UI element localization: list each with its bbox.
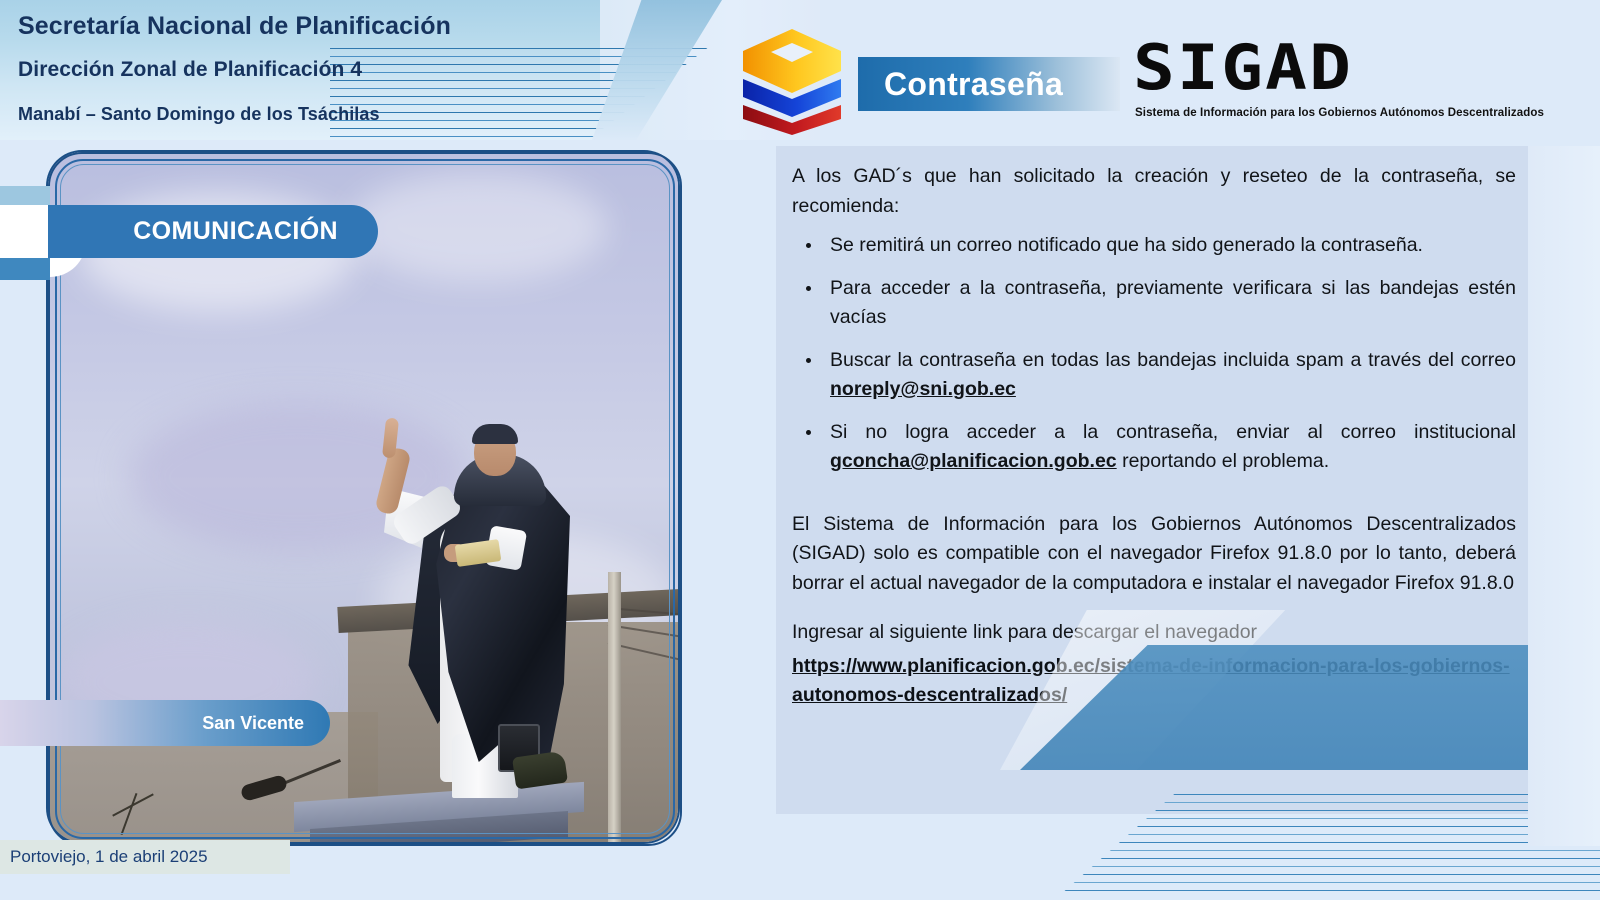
- comunicacion-tab-bottom: [0, 258, 50, 280]
- section-badge-label: COMUNICACIÓN: [133, 217, 338, 246]
- footer-band: Portoviejo, 1 de abril 2025: [0, 840, 290, 874]
- section-badge-comunicacion: COMUNICACIÓN: [48, 205, 378, 258]
- topic-badge-label: Contraseña: [884, 66, 1063, 103]
- right-edge-gradient: [1528, 146, 1600, 846]
- bullet-text-post: reportando el problema.: [1117, 450, 1329, 472]
- list-item: Si no logra acceder a la contraseña, env…: [792, 418, 1516, 477]
- bullet-text-pre: Si no logra acceder a la contraseña, env…: [830, 421, 1516, 443]
- bullet-text-pre: Buscar la contraseña en todas las bandej…: [830, 349, 1516, 371]
- list-item: Buscar la contraseña en todas las bandej…: [792, 346, 1516, 405]
- browser-compatibility-note: El Sistema de Información para los Gobie…: [792, 510, 1516, 599]
- bullet-link-support-email[interactable]: gconcha@planificacion.gob.ec: [830, 450, 1117, 472]
- organization-name: Secretaría Nacional de Planificación: [18, 12, 451, 41]
- sigad-stacked-cube-icon: [733, 27, 851, 135]
- statue-figure: [348, 402, 608, 802]
- province-scope: Manabí – Santo Domingo de los Tsáchilas: [18, 104, 380, 125]
- photo-caption-bar: San Vicente: [0, 700, 330, 746]
- slide-canvas: Secretaría Nacional de Planificación Dir…: [0, 0, 1600, 900]
- sigad-wordmark: SIGAD: [1133, 35, 1550, 101]
- intro-paragraph: A los GAD´s que han solicitado la creaci…: [792, 162, 1516, 221]
- topic-badge-contrasena: Contraseña: [858, 57, 1120, 111]
- recommendations-list: Se remitirá un correo notificado que ha …: [792, 231, 1516, 477]
- sigad-subtitle: Sistema de Información para los Gobierno…: [1135, 107, 1544, 119]
- zonal-direction: Dirección Zonal de Planificación 4: [18, 58, 362, 82]
- bullet-link-noreply-email[interactable]: noreply@sni.gob.ec: [830, 378, 1016, 400]
- footer-place-date: Portoviejo, 1 de abril 2025: [10, 847, 208, 867]
- utility-pole: [608, 572, 621, 842]
- photo-caption-label: San Vicente: [202, 713, 304, 734]
- sigad-logo: SIGAD Sistema de Información para los Go…: [1133, 35, 1505, 133]
- list-item: Se remitirá un correo notificado que ha …: [792, 231, 1516, 261]
- list-item: Para acceder a la contraseña, previament…: [792, 274, 1516, 333]
- bullet-text-pre: Para acceder a la contraseña, previament…: [830, 277, 1516, 329]
- bullet-text-pre: Se remitirá un correo notificado que ha …: [830, 234, 1423, 256]
- comunicacion-tab-top: [0, 186, 50, 205]
